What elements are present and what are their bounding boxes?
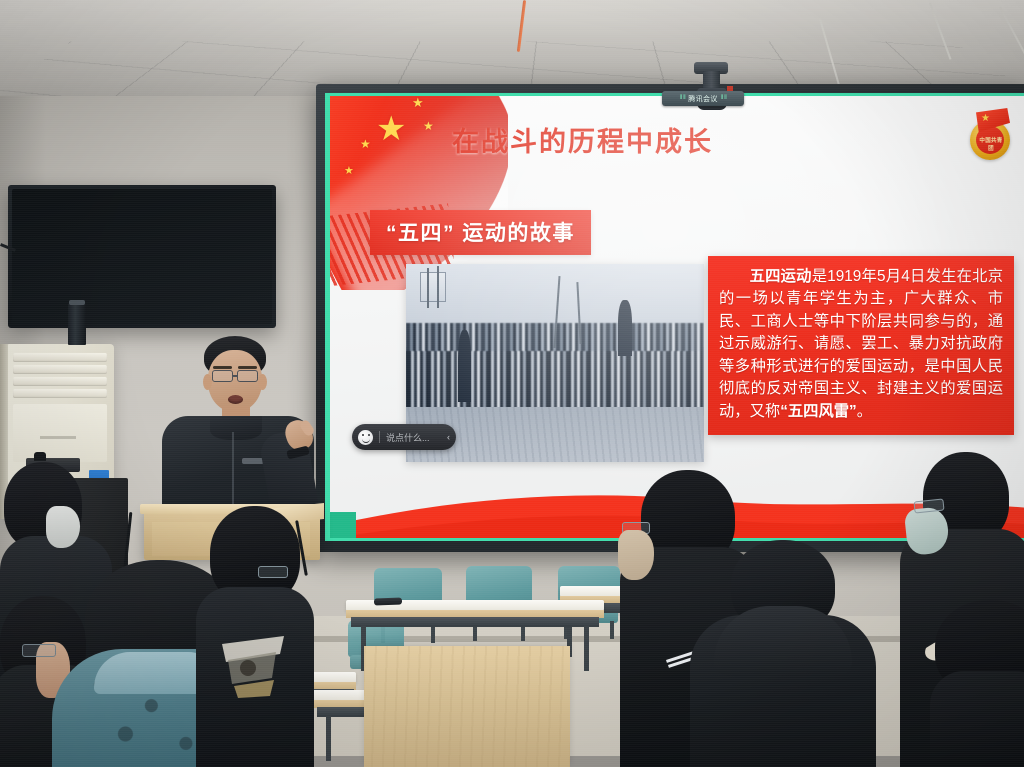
ac-vent-slat <box>13 377 107 386</box>
presenter-mouth <box>228 395 243 404</box>
slide-title: 在战斗的历程中成长 <box>452 120 713 159</box>
slide-green-corner-accent <box>330 512 356 538</box>
slide-info-box: 五四运动是1919年5月4日发生在北京的一场以青年学生为主，广大群众、市民、工商… <box>708 256 1014 435</box>
smiley-face-icon[interactable] <box>358 430 373 445</box>
slide-info-tail: 。 <box>857 403 872 420</box>
flag-star-icon: ★ <box>360 138 371 150</box>
flag-star-large-icon: ★ <box>376 112 406 146</box>
desk-leg <box>326 715 331 761</box>
student-back-view-front-right <box>930 600 1024 767</box>
slide-info-quote: “五四风雷” <box>780 403 857 420</box>
student-back-view-graphic-jacket <box>196 506 314 767</box>
desk-remote-control[interactable] <box>374 598 402 606</box>
presenter-eyebrow <box>238 366 257 369</box>
ac-vent-slat <box>13 365 107 374</box>
slide-info-lead: 五四运动 <box>750 268 812 285</box>
student-torso <box>930 671 1024 767</box>
flag-star-icon: ★ <box>423 120 434 132</box>
presenter-ear <box>203 374 212 390</box>
slide-subtitle-text: “五四” 运动的故事 <box>386 222 575 245</box>
ac-front-panel <box>13 404 107 462</box>
ac-vent-slat <box>13 353 107 362</box>
desk-apron <box>351 617 599 627</box>
communist-youth-league-emblem-icon: ★ 中国共青团 <box>968 108 1014 160</box>
chevron-left-icon[interactable]: ‹ <box>447 432 450 442</box>
student-back-view-hoodie <box>690 540 876 767</box>
chat-input-placeholder[interactable]: 说点什么... <box>386 431 430 444</box>
eyeglasses-icon <box>258 566 288 578</box>
desk-leg <box>584 625 589 671</box>
emblem-star-icon: ★ <box>981 113 990 124</box>
slide-info-paragraph: 五四运动是1919年5月4日发生在北京的一场以青年学生为主，广大群众、市民、工商… <box>719 266 1003 423</box>
presenter-ear <box>258 374 267 390</box>
ac-brand-strip <box>40 436 76 439</box>
ac-vent-slat <box>13 389 107 398</box>
signal-bars-icon: ⦀ ⦀ <box>680 95 685 102</box>
signal-bars-icon-right: ⦀ ⦀ <box>721 95 726 102</box>
presenter-collar <box>210 416 262 440</box>
wall-mounted-monitor <box>8 185 276 328</box>
slide-subtitle-banner: “五四” 运动的故事 <box>370 210 591 255</box>
eyeglasses-icon <box>22 644 56 657</box>
flag-star-icon: ★ <box>412 96 424 109</box>
chat-divider <box>379 431 380 443</box>
slide-info-body: 是1919年5月4日发生在北京的一场以青年学生为主，广大群众、市民、工商人士等中… <box>719 268 1003 420</box>
face-mask-icon <box>46 506 80 548</box>
camera-badge-label: 腾讯会议 <box>688 94 718 104</box>
emblem-text: 中国共青团 <box>977 136 1005 152</box>
presenter-eyebrow <box>213 366 232 369</box>
flag-star-icon: ★ <box>344 166 354 177</box>
eyeglasses-bridge <box>233 375 238 377</box>
monitor-speaker-column <box>68 303 86 345</box>
desk-front-wood-panel <box>364 646 570 767</box>
chat-input-overlay[interactable]: 说点什么... ‹ <box>352 424 456 450</box>
classroom-photo-scene: ⦀ ⦀ 腾讯会议 ⦀ ⦀ ★ ★ ★ ★ ★ 在战斗的历 <box>0 0 1024 767</box>
jacket-brand-logo <box>242 458 264 464</box>
face-mask-icon <box>618 530 654 580</box>
camera-brand-badge: ⦀ ⦀ 腾讯会议 ⦀ ⦀ <box>662 91 744 106</box>
eyeglasses-icon <box>212 370 233 382</box>
equipment-knob <box>34 452 46 461</box>
jacket-print-graphic <box>214 634 292 700</box>
eyeglasses-icon <box>237 370 258 382</box>
